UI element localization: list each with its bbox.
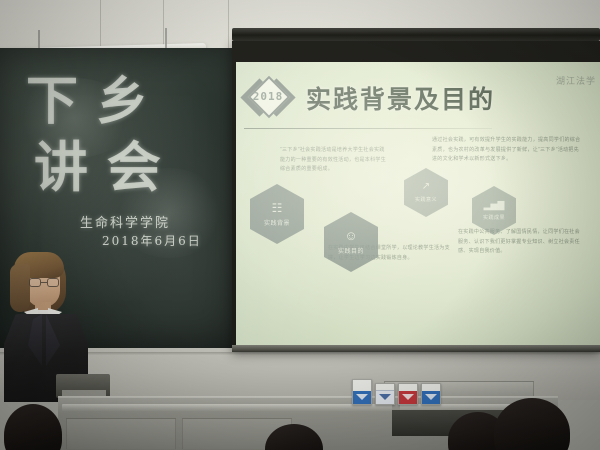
line-chart-icon: ↗ [422, 182, 430, 192]
hexagon-item-2: ☺ 实践目的 [324, 212, 378, 272]
hexagon-label: 实践意义 [415, 196, 437, 203]
light-support-rod [165, 28, 167, 48]
hexagon-shape: ☷ 实践背景 [250, 184, 304, 244]
audience-head [4, 404, 62, 450]
classroom-photo: 下 乡 讲 会 生命科学学院 2018年6月6日 2018 实践背景及目的 湖江… [0, 0, 600, 450]
blackboard-headline-line2: 讲 会 [34, 140, 161, 194]
year-badge: 2018 [246, 76, 290, 120]
desk-box [375, 383, 395, 405]
desk-box [398, 383, 418, 405]
presenter-board-icon: ☷ [272, 202, 283, 214]
lectern-rail [62, 404, 392, 412]
desk-box [421, 383, 441, 405]
hexagon-item-3: ↗ 实践意义 [404, 168, 448, 217]
bar-chart-icon: ▂▅▇ [484, 201, 505, 210]
desk-box [352, 379, 372, 405]
badge-year-label: 2018 [246, 90, 290, 103]
title-underline [244, 128, 492, 129]
slide-header: 2018 实践背景及目的 [242, 76, 495, 120]
projection-screen-bottom-bar [232, 345, 600, 352]
slide-body-left: “三下乡”社会实践活动是培养大学生社会实践能力的一种重要的有效性活动，也是本科学… [280, 146, 388, 175]
blackboard-date: 2018年6月6日 [102, 232, 202, 249]
hexagon-label: 实践背景 [264, 218, 290, 227]
hexagon-shape: ☺ 实践目的 [324, 212, 378, 272]
projection-screen-roller [232, 28, 600, 41]
slide-title: 实践背景及目的 [306, 80, 495, 116]
hexagon-label: 实践目的 [338, 246, 364, 255]
presentation-slide: 2018 实践背景及目的 湖江法学 “三下乡”社会实践活动是培养大学生社会实践能… [236, 62, 600, 345]
blackboard-organization: 生命科学学院 [80, 212, 170, 231]
desk-box-row [352, 379, 441, 405]
hexagon-shape: ▂▅▇ 实践成果 [472, 186, 516, 235]
slide-watermark: 湖江法学 [556, 74, 596, 87]
lectern-drawer-panel[interactable] [66, 418, 176, 450]
hexagon-label: 实践成果 [483, 214, 505, 221]
hair-side [10, 264, 30, 312]
hexagon-item-4: ▂▅▇ 实践成果 [472, 186, 516, 235]
glasses-lens-right [47, 278, 59, 287]
light-support-rod [38, 30, 40, 48]
glasses-lens-left [29, 278, 41, 287]
slide-body-right: 通过社会实践，可有效提升学生的实践能力，提高同学们的综合素质，也为农村的改革与发… [432, 136, 582, 165]
blackboard-headline-line1: 下 乡 [26, 76, 148, 128]
hexagon-shape: ↗ 实践意义 [404, 168, 448, 217]
projection-screen-surface: 2018 实践背景及目的 湖江法学 “三下乡”社会实践活动是培养大学生社会实践能… [236, 62, 600, 345]
person-clock-icon: ☺ [344, 229, 357, 242]
hexagon-item-1: ☷ 实践背景 [250, 184, 304, 244]
glasses-icon [29, 278, 59, 287]
